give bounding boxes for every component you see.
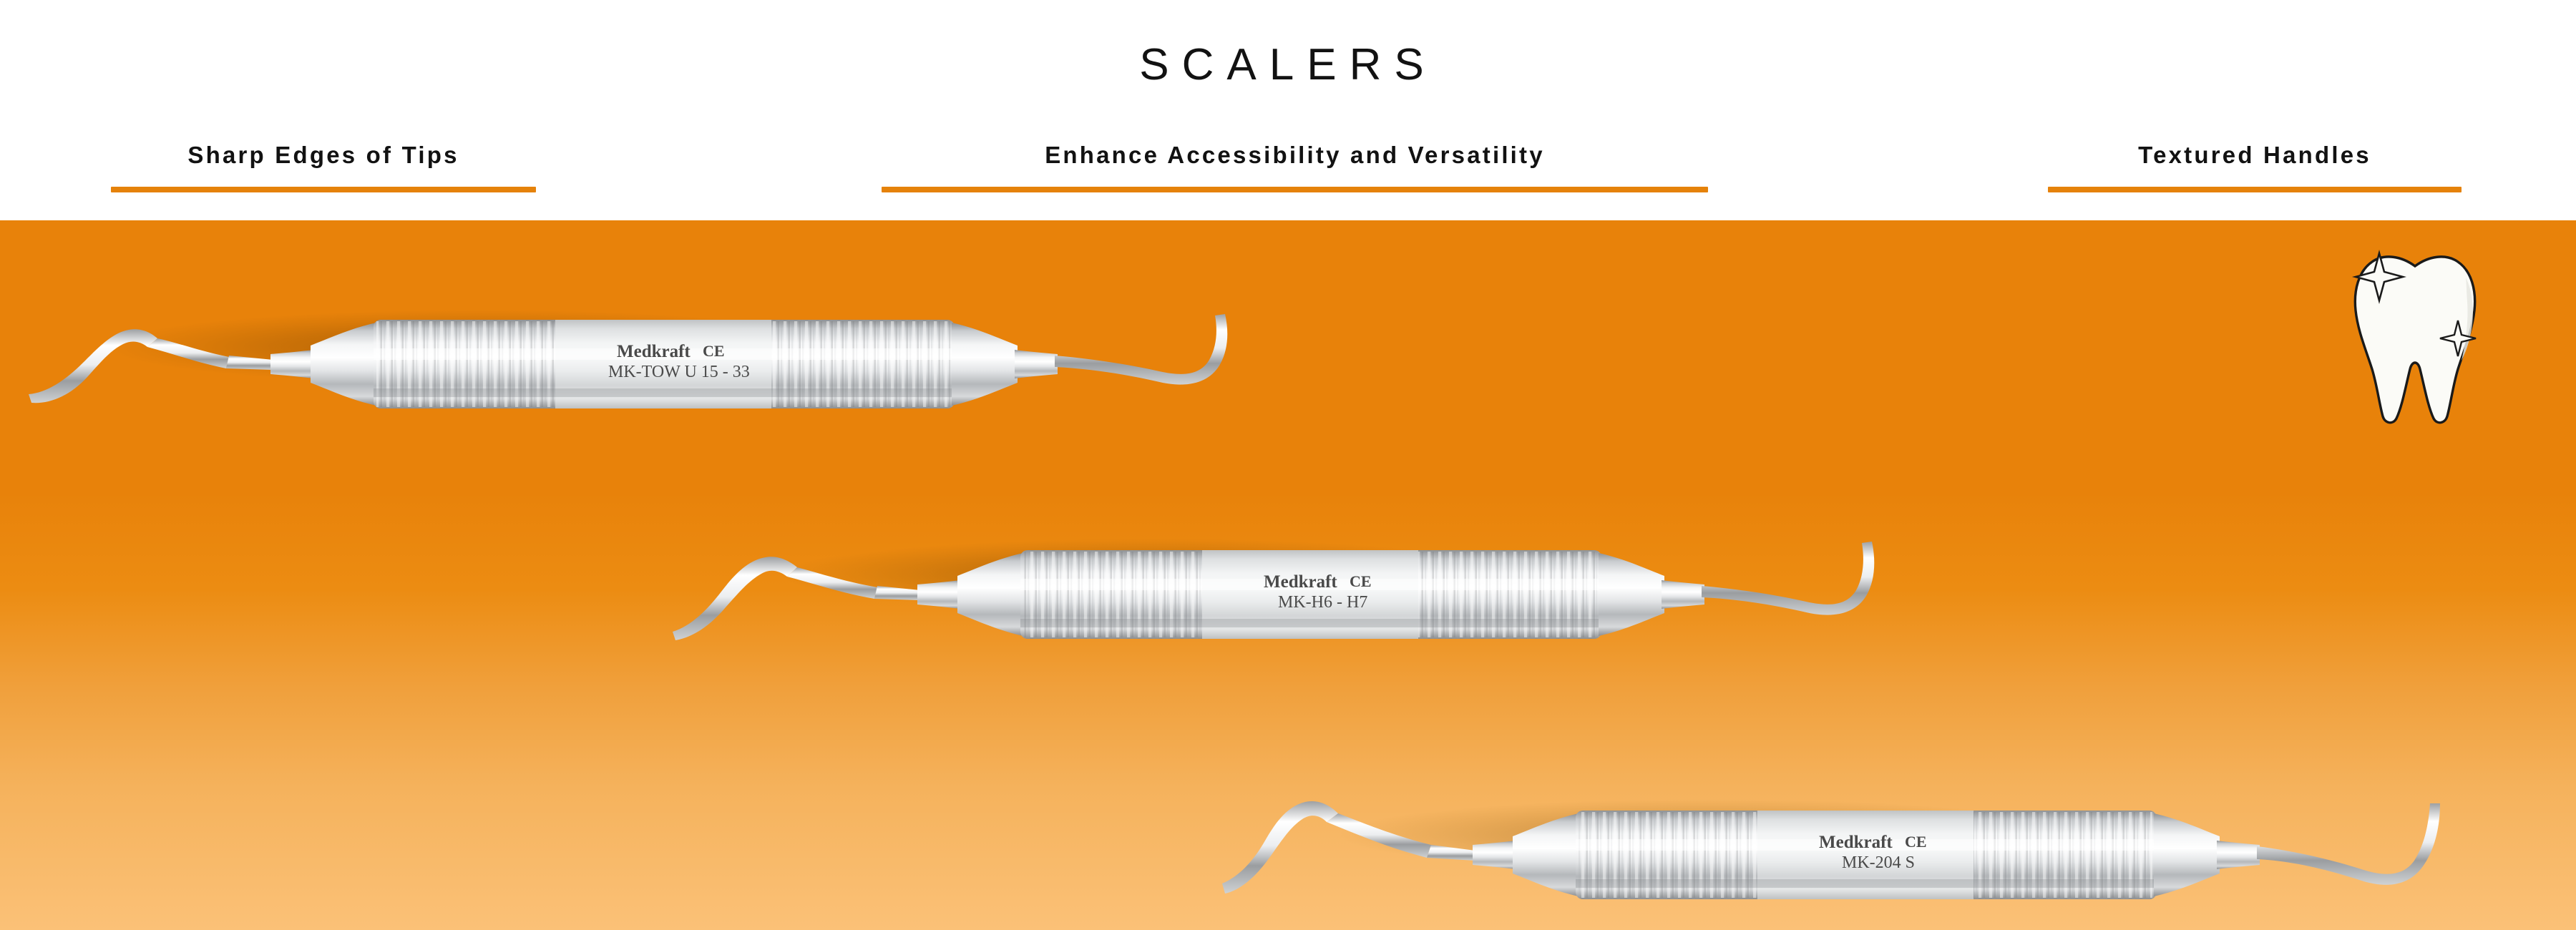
page-title: SCALERS <box>0 39 2576 90</box>
feature-item-textured-handles: Textured Handles <box>2048 139 2462 192</box>
handle-cone-right <box>1599 553 1664 636</box>
handle-cone-right <box>2154 813 2220 896</box>
handle-lowlight <box>374 388 955 397</box>
tooth-sparkle-logo <box>2340 240 2490 426</box>
scaler-tip-left <box>1222 801 1338 894</box>
ferrule-right <box>1015 350 1058 378</box>
feature-label: Textured Handles <box>2048 139 2462 171</box>
scaler-instrument-1[interactable]: Medkraft CE MK-TOW U 15 - 33 <box>21 288 1238 424</box>
scaler-instrument-3[interactable]: Medkraft CE MK-204 S <box>1216 775 2447 918</box>
ferrule-left <box>1473 841 1516 869</box>
handle-lowlight <box>1020 619 1601 627</box>
scaler-tip-right <box>2257 803 2440 885</box>
handle-lowlight <box>1576 879 2157 888</box>
ferrule-left <box>917 580 960 609</box>
engraving-code: MK-H6 - H7 <box>1278 593 1367 612</box>
engraving-brand: Medkraft <box>1264 572 1337 592</box>
feature-underline <box>882 187 1708 192</box>
engraving-brand: Medkraft <box>617 342 691 361</box>
ferrule-right <box>2217 841 2260 869</box>
scalers-product-banner: SCALERS Sharp Edges of Tips Enhance Acce… <box>0 0 2576 930</box>
scaler-tip-right <box>1055 314 1227 385</box>
scaler-tip-right <box>1702 542 1874 615</box>
engraving-ce-mark: CE <box>1350 572 1372 590</box>
feature-item-accessibility: Enhance Accessibility and Versatility <box>882 139 1708 192</box>
scaler-tip-left <box>673 557 797 640</box>
banner-header: SCALERS Sharp Edges of Tips Enhance Acce… <box>0 0 2576 220</box>
ferrule-left <box>270 350 313 378</box>
engraving-ce-mark: CE <box>703 342 725 360</box>
product-stage: Medkraft CE MK-TOW U 15 - 33 <box>0 220 2576 930</box>
ferrule-right <box>1662 580 1704 609</box>
feature-underline <box>2048 187 2462 192</box>
engraving-ce-mark: CE <box>1905 833 1927 851</box>
engraving-code: MK-204 S <box>1842 853 1915 872</box>
scaler-tip-left <box>29 329 157 403</box>
engraving-code: MK-TOW U 15 - 33 <box>608 363 750 381</box>
scaler-instrument-2[interactable]: Medkraft CE MK-H6 - H7 <box>665 517 1882 653</box>
feature-list: Sharp Edges of Tips Enhance Accessibilit… <box>0 139 2576 204</box>
feature-underline <box>111 187 536 192</box>
feature-item-sharp-edges: Sharp Edges of Tips <box>111 139 536 192</box>
feature-label: Sharp Edges of Tips <box>111 139 536 171</box>
feature-label: Enhance Accessibility and Versatility <box>882 139 1708 171</box>
handle-cone-right <box>952 323 1018 406</box>
engraving-brand: Medkraft <box>1819 833 1893 852</box>
